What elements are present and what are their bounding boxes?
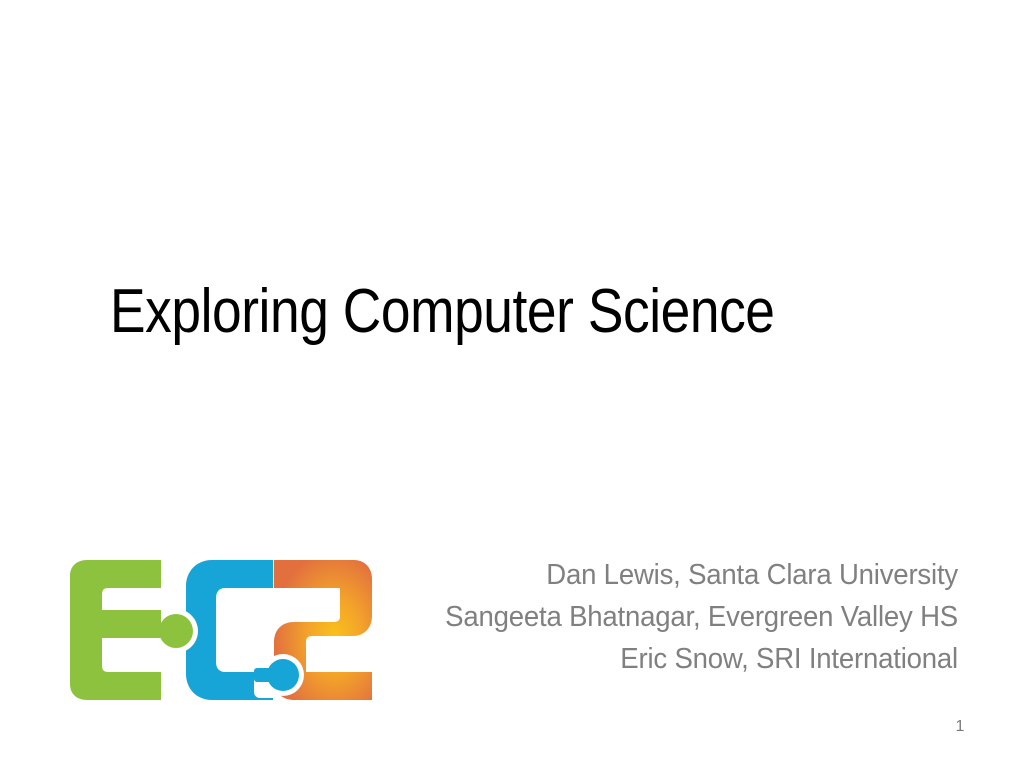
author-line-3: Eric Snow, SRI International <box>388 638 958 680</box>
slide-canvas: Exploring Computer Science <box>0 0 1024 768</box>
author-line-1: Dan Lewis, Santa Clara University <box>388 554 958 596</box>
c-s-connector-node <box>267 659 299 691</box>
page-number: 1 <box>945 718 975 736</box>
author-line-2: Sangeeta Bhatnagar, Evergreen Valley HS <box>388 596 958 638</box>
e-c-connector-node <box>159 614 193 648</box>
page-title: Exploring Computer Science <box>110 278 798 346</box>
ecs-logo <box>68 558 374 704</box>
authors-block: Dan Lewis, Santa Clara University Sangee… <box>358 554 958 680</box>
ecs-logo-graphic <box>68 558 374 704</box>
